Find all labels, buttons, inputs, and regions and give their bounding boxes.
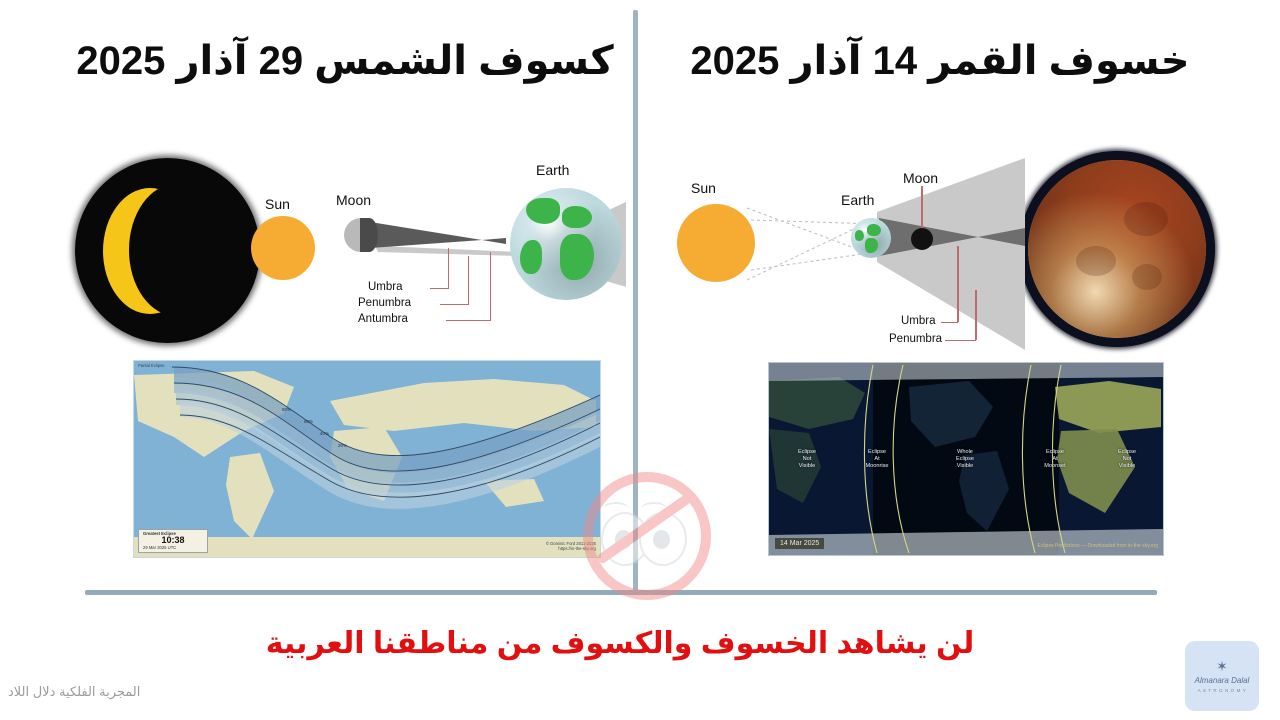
lunar-zone-label-5: Eclipse Not Visible xyxy=(1099,449,1155,470)
solar-inset-subtitle: 29 Mar 2025 UTC xyxy=(143,546,203,550)
earth-label-right: Earth xyxy=(841,192,874,208)
earth-right-land-2 xyxy=(865,238,878,253)
moon-sphere xyxy=(344,218,378,252)
moon-pointer xyxy=(921,186,923,228)
sun-sphere-right xyxy=(677,204,755,282)
sun-label-right: Sun xyxy=(691,180,716,196)
solar-map-inset: Greatest Eclipse 10:38 29 Mar 2025 UTC xyxy=(138,529,208,553)
earth-sphere xyxy=(510,188,622,300)
blood-moon-photo xyxy=(1028,160,1206,338)
moon-mare-3 xyxy=(1132,264,1162,290)
lunar-eclipse-diagram: Sun Earth Moon Umbra Penumbra xyxy=(655,150,1025,360)
sun-label-left: Sun xyxy=(265,196,290,212)
solar-eclipse-diagram: Moon Earth Umbra Penumbra Antumbra xyxy=(330,160,626,340)
lunar-zone-label-1: Eclipse Not Visible xyxy=(779,449,835,470)
earth-right-land-1 xyxy=(867,224,881,236)
crescent-inner-mask xyxy=(129,184,223,316)
logo-star-icon: ✶ xyxy=(1216,659,1228,673)
antumbra-leader xyxy=(490,252,491,320)
solar-map-top-label-text: Partial Eclipse xyxy=(138,363,165,368)
solar-eclipse-visibility-map: 80% 60% 40% 20% Greatest Eclipse 10:38 2… xyxy=(133,360,601,558)
publisher-credit: المجربة الفلكية دلال اللاد xyxy=(8,684,140,700)
earth-sphere-right xyxy=(851,218,891,258)
penumbra-leader-h xyxy=(440,304,469,305)
umbra-label-right: Umbra xyxy=(901,315,936,327)
antumbra-label: Antumbra xyxy=(358,313,408,325)
partial-solar-eclipse-photo xyxy=(75,158,260,343)
lunar-zone-label-3: Whole Eclipse Visible xyxy=(935,449,995,470)
lunar-eclipse-title: خسوف القمر 14 آذار 2025 xyxy=(655,38,1225,84)
penumbra-leader-right-h xyxy=(945,340,976,341)
antumbra-leader-h xyxy=(446,320,491,321)
moon-label: Moon xyxy=(336,192,371,208)
lunar-eclipse-visibility-map: Eclipse Not Visible Eclipse At Moonrise … xyxy=(768,362,1164,556)
earth-landmass-africa xyxy=(560,234,594,280)
earth-label: Earth xyxy=(536,162,569,178)
lunar-map-credit: Eclipse Predictions — Downloaded from in… xyxy=(1037,543,1158,549)
moon-mare-2 xyxy=(1076,246,1116,276)
logo-badge: ✶ Almanara Dalal A S T R O N O M Y xyxy=(1185,641,1259,711)
umbra-leader-right xyxy=(957,246,959,322)
moon-mare-1 xyxy=(1124,202,1168,236)
penumbra-label-right: Penumbra xyxy=(889,333,942,345)
lunar-zone-label-2: Eclipse At Moonrise xyxy=(849,449,905,470)
moon-shadow-side xyxy=(360,218,378,252)
no-looking-icon xyxy=(583,472,701,590)
warning-text: لن يشاهد الخسوف والكسوف من مناطقنا العرب… xyxy=(90,626,1150,661)
infographic-canvas: كسوف الشمس 29 آذار 2025 Moon Earth xyxy=(0,0,1280,720)
lunar-zone-label-4: Eclipse At Moonset xyxy=(1027,449,1083,470)
prohibition-ring xyxy=(583,472,711,600)
earth-landmass-north xyxy=(526,198,560,224)
moon-sphere-right xyxy=(911,228,933,250)
earth-landmass-west xyxy=(520,240,542,274)
earth-right-land-3 xyxy=(855,230,864,241)
solar-eclipse-title: كسوف الشمس 29 آذار 2025 xyxy=(60,38,630,84)
solar-map-graphic: 80% 60% 40% 20% xyxy=(134,361,600,557)
moon-label-right: Moon xyxy=(903,170,938,186)
umbra-leader-right-h xyxy=(941,322,958,323)
umbra-label: Umbra xyxy=(368,281,403,293)
logo-name: Almanara Dalal xyxy=(1195,676,1250,685)
umbra-leader xyxy=(448,248,449,288)
lunar-map-date-chip: 14 Mar 2025 xyxy=(775,538,824,549)
solar-map-top-label: Partial Eclipse xyxy=(138,364,165,369)
svg-text:60%: 60% xyxy=(304,419,313,424)
svg-text:80%: 80% xyxy=(282,407,291,412)
logo-tagline: A S T R O N O M Y xyxy=(1198,688,1247,693)
penumbra-leader-right xyxy=(975,290,977,340)
penumbra-leader xyxy=(468,256,469,304)
penumbra-label: Penumbra xyxy=(358,297,411,309)
earth-landmass-europe xyxy=(562,206,592,228)
svg-text:40%: 40% xyxy=(320,431,329,436)
svg-text:20%: 20% xyxy=(338,443,347,448)
solar-crescent xyxy=(103,188,197,314)
sun-disk-left xyxy=(251,216,315,280)
umbra-leader-h xyxy=(430,288,449,289)
